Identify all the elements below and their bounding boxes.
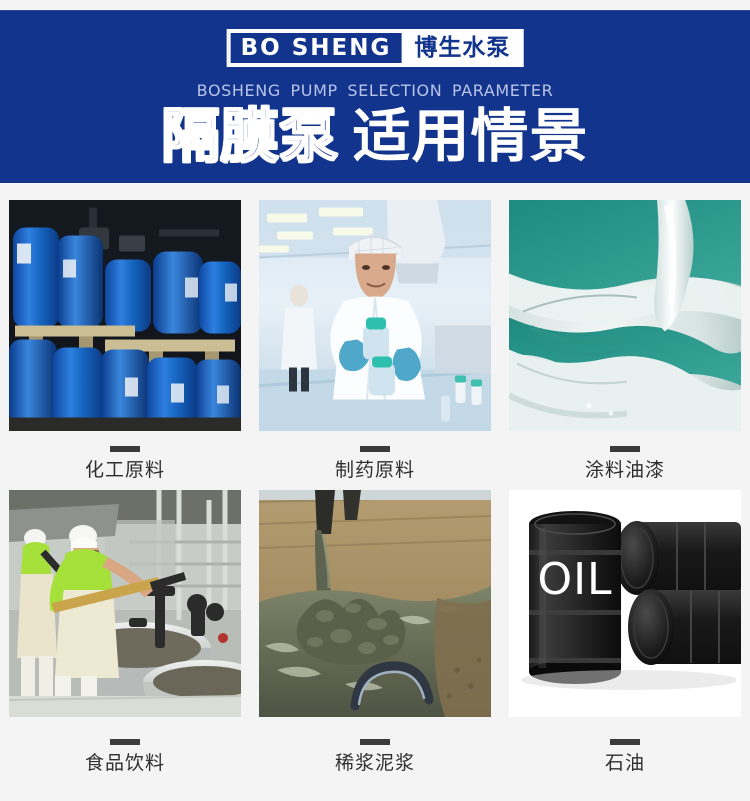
header-banner: BO SHENG 博生水泵 BOSHENG PUMP SELECTION PAR… — [0, 10, 750, 183]
logo-chinese-box: 博生水泵 — [403, 29, 523, 67]
oil-barrel-label: OIL — [537, 554, 612, 605]
scenario-image-paint-swirl — [509, 200, 741, 431]
caption-dash — [110, 739, 140, 745]
scenario-image-chemical-drums — [9, 200, 241, 431]
scenario-image-pharma-lab — [259, 200, 491, 431]
page-root: BO SHENG 博生水泵 BOSHENG PUMP SELECTION PAR… — [0, 0, 750, 801]
banner-title-solid: 适用情景 — [353, 107, 589, 165]
brand-logo: BO SHENG 博生水泵 — [227, 29, 524, 67]
scenario-grid: 化工原料 — [0, 190, 750, 801]
scenario-card[interactable]: 化工原料 — [0, 190, 250, 480]
scenario-image-slurry-tank — [259, 490, 491, 717]
scenario-card[interactable]: OIL 石油 — [500, 480, 750, 780]
caption-dash — [610, 446, 640, 452]
scenario-card[interactable]: 食品饮料 — [0, 480, 250, 780]
scenario-caption: 涂料油漆 — [585, 461, 665, 480]
logo-chinese-text: 博生水泵 — [414, 37, 510, 60]
logo-english-box: BO SHENG — [229, 31, 404, 65]
scenario-image-oil-barrels: OIL — [509, 490, 741, 717]
caption-dash — [610, 739, 640, 745]
banner-title: 隔膜泵适用情景 — [0, 107, 750, 165]
scenario-caption: 食品饮料 — [85, 754, 165, 773]
caption-dash — [110, 446, 140, 452]
banner-subtitle: BOSHENG PUMP SELECTION PARAMETER — [0, 81, 750, 100]
logo-english-text: BO SHENG — [241, 37, 392, 60]
scenario-caption: 化工原料 — [85, 461, 165, 480]
caption-dash — [360, 739, 390, 745]
scenario-caption: 稀浆泥浆 — [335, 754, 415, 773]
scenario-card[interactable]: 涂料油漆 — [500, 190, 750, 480]
scenario-caption: 制药原料 — [335, 461, 415, 480]
scenario-caption: 石油 — [605, 754, 645, 773]
scenario-card[interactable]: 稀浆泥浆 — [250, 480, 500, 780]
caption-dash — [360, 446, 390, 452]
banner-title-outline: 隔膜泵 — [161, 107, 338, 165]
scenario-card[interactable]: 制药原料 — [250, 190, 500, 480]
scenario-image-food-processing — [9, 490, 241, 717]
